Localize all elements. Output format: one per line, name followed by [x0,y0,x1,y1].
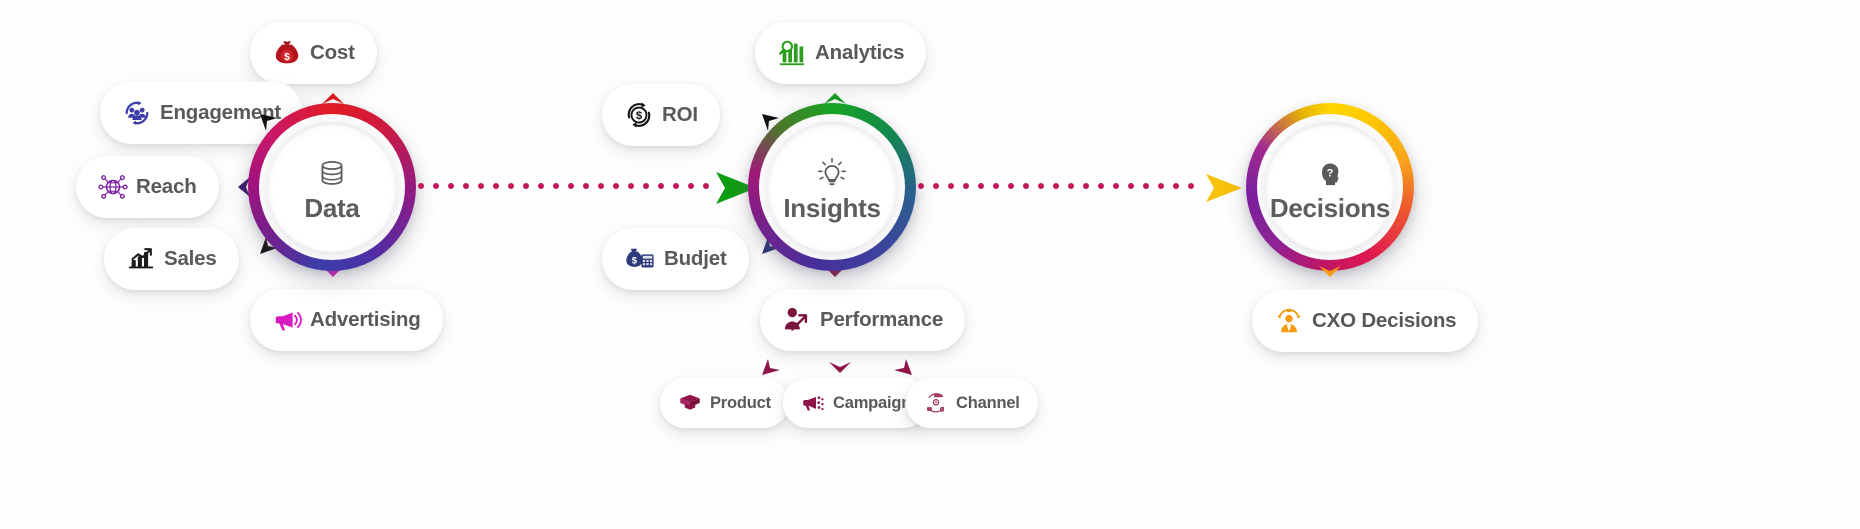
pill-advertising[interactable]: Advertising [250,289,443,351]
chevron-downleft-icon-sub [760,355,784,377]
pill-label: Sales [164,247,217,271]
hub-decisions[interactable]: ? Decisions [1246,103,1414,271]
pill-budjet[interactable]: $ Budjet [602,228,749,290]
people-cycle-icon [122,98,152,128]
megaphone-icon [272,305,302,335]
pill-label: Cost [310,41,355,65]
connector-data-insights [418,183,718,191]
roi-dollar-cycle-icon: $ [624,100,654,130]
pill-label: Analytics [815,41,904,65]
globe-network-icon [98,172,128,202]
pill-roi[interactable]: $ ROI [602,84,720,146]
pill-performance[interactable]: Performance [760,289,965,351]
diagram-canvas: $ Cost Engagement [0,0,1860,529]
pill-cost[interactable]: $ Cost [250,22,377,84]
hub-label: Insights [783,193,880,224]
svg-text:$: $ [632,256,638,266]
cxo-person-icon [1274,306,1304,336]
pill-label: Budjet [664,247,727,271]
product-box-icon [678,391,702,415]
pill-sales[interactable]: Sales [104,228,239,290]
chevron-down-icon-decisions [1316,262,1344,282]
budget-calculator-icon: $ [624,244,656,274]
connector-insights-decisions [918,183,1208,191]
channel-cycle-icon [924,391,948,415]
pill-label: Campaign [833,394,911,413]
pill-label: Product [710,394,771,413]
svg-text:?: ? [1327,167,1334,179]
analytics-search-icon [777,38,807,68]
pill-product[interactable]: Product [660,378,789,428]
pill-label: Performance [820,308,943,332]
pill-reach[interactable]: Reach [76,156,219,218]
hub-data[interactable]: Data [248,103,416,271]
svg-text:$: $ [284,52,290,63]
chevron-downright-icon-sub [890,355,914,377]
pill-cxo-decisions[interactable]: CXO Decisions [1252,290,1478,352]
pill-label: Channel [956,394,1020,413]
pill-analytics[interactable]: Analytics [755,22,926,84]
chevron-down-icon-sub [826,358,854,378]
hub-insights[interactable]: Insights [748,103,916,271]
hub-core-insights: Insights [767,122,897,252]
hub-label: Decisions [1270,193,1390,224]
pill-channel[interactable]: Channel [906,378,1038,428]
pill-label: Advertising [310,308,421,332]
person-growth-icon [782,305,812,335]
pill-label: ROI [662,103,698,127]
arrow-insights-to-decisions [1204,170,1244,206]
megaphone-ads-icon [801,391,825,415]
money-bag-icon: $ [272,38,302,68]
growth-chart-icon [126,244,156,274]
head-question-icon: ? [1314,151,1346,191]
pill-label: CXO Decisions [1312,309,1456,333]
hub-core-data: Data [267,122,397,252]
pill-label: Reach [136,175,197,199]
lightbulb-icon [815,151,849,191]
hub-core-decisions: ? Decisions [1265,122,1395,252]
svg-text:$: $ [636,110,643,122]
hub-label: Data [304,193,359,224]
database-icon [315,151,349,191]
